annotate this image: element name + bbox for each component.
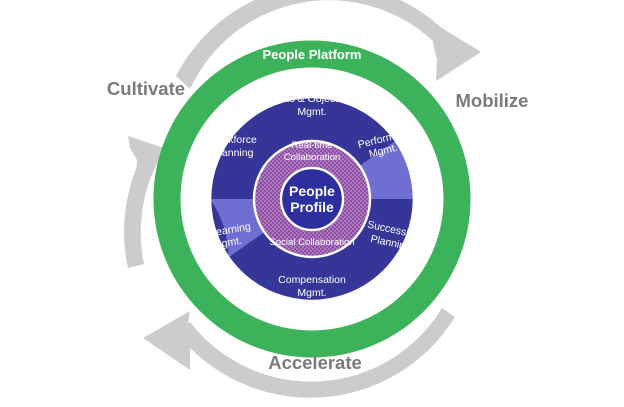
segment-label-compensation-mgmt-line2: Mgmt. (297, 287, 326, 299)
phase-label-cultivate: Cultivate (107, 78, 185, 99)
collaboration-label-realtime-line2: Collaboration (284, 152, 341, 163)
collaboration-label-realtime: Real-time (291, 140, 332, 151)
core-label-line2: Profile (290, 199, 334, 215)
core-label-line1: People (289, 183, 335, 199)
phase-label-accelerate: Accelerate (268, 352, 362, 373)
segment-label-compensation-mgmt: Compensation (278, 274, 346, 286)
people-platform-label: People Platform (263, 47, 362, 62)
segment-label-workforce-planning-line2: Planning (213, 147, 254, 159)
talent-cycle-diagram: People Platform Goals & Objectives Mgmt.… (0, 0, 624, 407)
collaboration-label-social: Social Collaboration (269, 237, 354, 248)
segment-label-goals-objectives-mgmt-line2: Mgmt. (297, 106, 326, 118)
phase-label-mobilize: Mobilize (456, 90, 529, 111)
segment-label-goals-objectives-mgmt: Goals & Objectives (267, 93, 356, 105)
segment-label-workforce-planning: Workforce (209, 134, 257, 146)
diagram-canvas: People Platform Goals & Objectives Mgmt.… (0, 0, 624, 407)
